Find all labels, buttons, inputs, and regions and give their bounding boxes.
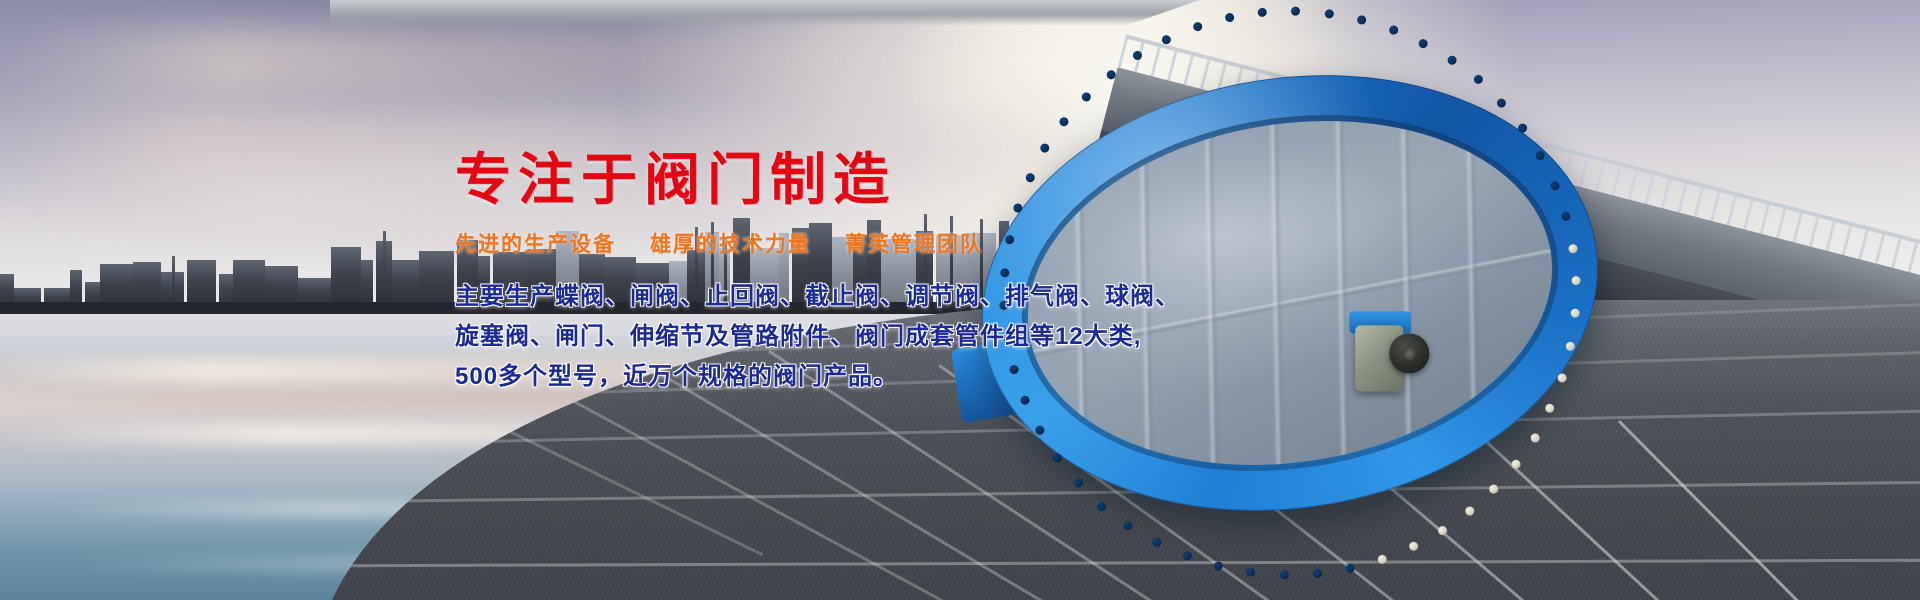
flange-bolt-hole (1324, 8, 1334, 18)
flange-bolt-hole (1565, 341, 1575, 351)
flange-bolt-hole (1447, 55, 1457, 65)
flange-bolt-hole (1097, 501, 1107, 511)
flange-bolt-hole (1535, 151, 1545, 161)
disc-rib (1269, 85, 1286, 501)
flange-bolt-hole (1034, 425, 1044, 435)
flange-bolt-hole (1497, 98, 1507, 108)
flange-bolt-hole (1511, 460, 1521, 470)
description-line-3: 500多个型号，近万个规格的阀门产品。 (455, 357, 1075, 397)
skyline-spire (172, 256, 175, 308)
flange-bolt-hole (1570, 308, 1580, 318)
banner-subtitle: 先进的生产设备雄厚的技术力量菁英管理团队 (455, 234, 1075, 255)
subtitle-segment-3: 菁英管理团队 (845, 234, 983, 255)
skyline-building (0, 348, 27, 368)
flange-bolt-hole (1550, 180, 1560, 190)
skyline-building (361, 260, 373, 308)
flange-bolt-hole (1473, 75, 1483, 85)
flange-bolt-hole (1388, 25, 1398, 35)
subtitle-segment-2: 雄厚的技术力量 (650, 234, 811, 255)
description-line-2: 旋塞阀、闸门、伸缩节及管路附件、阀门成套管件组等12大类, (455, 317, 1075, 357)
flange-bolt-hole (1105, 69, 1115, 79)
disc-rib (1203, 96, 1220, 501)
valve-gearbox (1349, 311, 1427, 403)
ground-edge (330, 0, 1200, 26)
flange-bolt-hole (1560, 211, 1570, 221)
flange-bolt-hole (1567, 243, 1577, 253)
promo-banner: 专注于阀门制造 先进的生产设备雄厚的技术力量菁英管理团队 主要生产蝶阀、闸阀、止… (0, 0, 1920, 600)
flange-bolt-hole (1571, 276, 1581, 286)
flange-bolt-hole (1123, 521, 1133, 531)
flange-bolt-hole (1020, 396, 1030, 406)
banner-copy: 专注于阀门制造 先进的生产设备雄厚的技术力量菁英管理团队 主要生产蝶阀、闸阀、止… (455, 152, 1075, 397)
flange-bolt-hole (1557, 373, 1567, 383)
skyline-building (0, 328, 26, 348)
skyline-building (331, 247, 361, 308)
skyline-building (0, 368, 20, 402)
description-line-1: 主要生产蝶阀、闸阀、止回阀、截止阀、调节阀、排气阀、球阀、 (455, 277, 1075, 317)
skyline-spire (383, 231, 386, 308)
flange-bolt-hole (1518, 123, 1528, 133)
flange-bolt-hole (1081, 91, 1091, 101)
skyline-building (233, 260, 265, 308)
banner-description: 主要生产蝶阀、闸阀、止回阀、截止阀、调节阀、排气阀、球阀、旋塞阀、闸门、伸缩节及… (455, 277, 1075, 397)
subtitle-segment-1: 先进的生产设备 (455, 234, 616, 255)
skyline-building (187, 260, 216, 308)
skyline-building (419, 251, 454, 308)
page-title: 专注于阀门制造 (455, 152, 1075, 208)
flange-bolt-hole (1530, 432, 1540, 442)
skyline-building (392, 260, 419, 308)
handwheel-icon (1389, 333, 1429, 373)
flange-bolt-hole (1052, 453, 1062, 463)
flange-bolt-hole (1059, 116, 1069, 126)
flange-bolt-hole (1545, 403, 1555, 413)
